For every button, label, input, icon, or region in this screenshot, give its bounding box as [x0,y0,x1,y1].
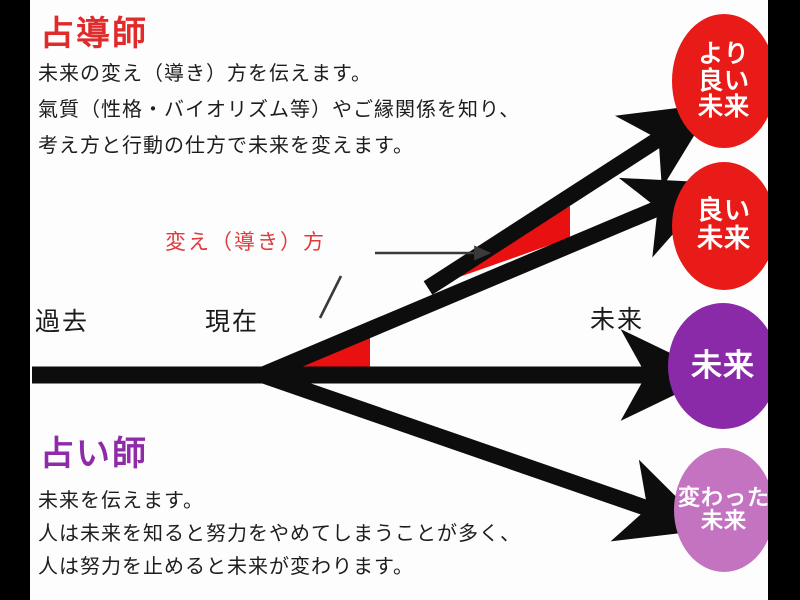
diagram-stage: 占導師 未来の変え（導き）方を伝えます。 氣質（性格・バイオリズム等）やご縁関係… [0,0,800,600]
outcome-changed-future-line-2: 未来 [701,510,747,533]
annotation-label: 変え（導き）方 [165,228,326,256]
fortune-teller-line-3: 人は努力を止めると未来が変わります。 [38,553,414,580]
guide-line-2: 氣質（性格・バイオリズム等）やご縁関係を知り、 [38,96,520,123]
diagram-canvas: 占導師 未来の変え（導き）方を伝えます。 氣質（性格・バイオリズム等）やご縁関係… [30,0,768,600]
fortune-teller-line-1: 未来を伝えます。 [38,487,204,514]
outcome-better-future-line-3: 未来 [698,94,750,121]
label-present: 現在 [205,305,259,339]
guide-heading: 占導師 [40,12,148,58]
letterbox-left [0,0,30,600]
letterbox-right [768,0,800,600]
outcome-good-future: 良い 未来 [672,162,768,290]
outcome-better-future-line-1: より [698,41,750,68]
guide-line-3: 考え方と行動の仕方で未来を変えます。 [38,132,414,159]
label-past: 過去 [35,305,89,339]
outcome-good-future-line-1: 良い [697,198,751,226]
guide-line-1: 未来の変え（導き）方を伝えます。 [38,60,372,87]
outcome-better-future-line-2: 良い [698,68,750,95]
fortune-teller-heading: 占い師 [40,432,148,478]
outcome-changed-future-line-1: 変わった [678,487,768,510]
outcome-better-future: より 良い 未来 [672,14,768,148]
annotation-pointer [320,276,341,318]
outcome-changed-future: 変わった 未来 [674,448,768,572]
fortune-teller-line-2: 人は未来を知ると努力をやめてしまうことが多く、 [38,520,521,547]
outcome-plain-future-line-1: 未来 [691,350,755,383]
outcome-plain-future: 未来 [668,303,768,429]
label-future: 未来 [590,303,644,337]
branch-down-arrow [262,375,658,512]
outcome-good-future-line-2: 未来 [697,226,751,254]
